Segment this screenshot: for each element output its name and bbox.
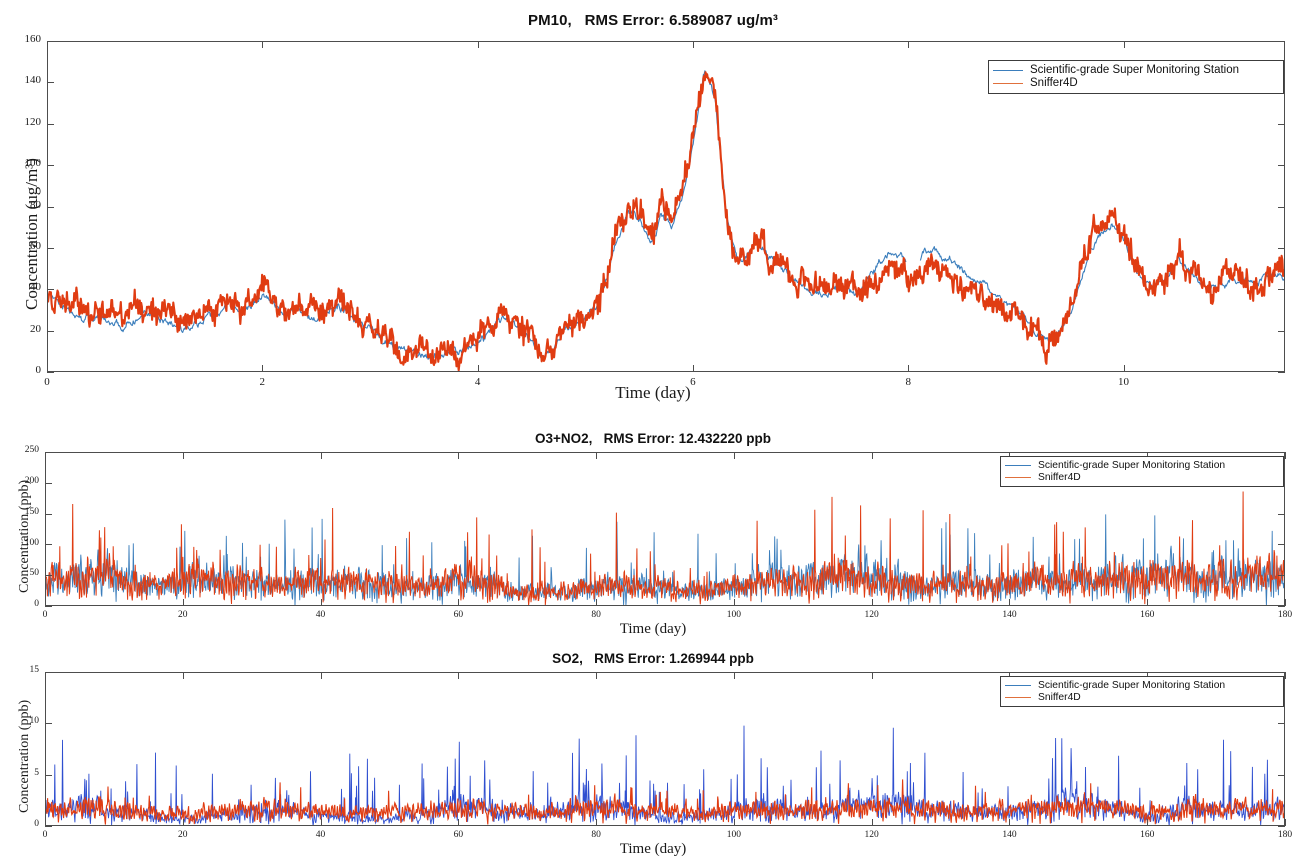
y-tick-mark-right <box>1278 672 1285 673</box>
figure-root: PM10, RMS Error: 6.589087 ug/m³ 02040608… <box>0 0 1306 862</box>
x-tick-mark <box>734 819 735 826</box>
y-tick-mark-right <box>1278 452 1285 453</box>
x-tick-label: 80 <box>574 610 618 620</box>
legend-swatch-station <box>993 70 1023 71</box>
x-tick-mark-top <box>478 41 479 48</box>
y-tick-mark <box>47 207 54 208</box>
x-tick-mark-top <box>908 41 909 48</box>
x-tick-mark <box>1124 365 1125 372</box>
x-tick-mark-top <box>183 452 184 459</box>
x-tick-mark-top <box>596 672 597 679</box>
x-tick-label: 0 <box>23 830 67 840</box>
y-tick-mark-right <box>1278 544 1285 545</box>
x-tick-label: 140 <box>987 830 1031 840</box>
x-tick-mark <box>183 599 184 606</box>
y-tick-mark-right <box>1278 124 1285 125</box>
legend-swatch-sniffer <box>993 83 1023 84</box>
x-tick-label: 180 <box>1263 610 1306 620</box>
panel-title-pm10: PM10, RMS Error: 6.589087 ug/m³ <box>0 12 1306 29</box>
x-tick-mark <box>262 365 263 372</box>
legend-so2: Scientific-grade Super Monitoring Statio… <box>1000 676 1284 707</box>
y-tick-mark <box>47 331 54 332</box>
legend-label-station: Scientific-grade Super Monitoring Statio… <box>1030 64 1239 77</box>
x-tick-mark-top <box>47 41 48 48</box>
x-tick-mark <box>872 599 873 606</box>
y-tick-mark-right <box>1278 606 1285 607</box>
x-tick-mark-top <box>872 452 873 459</box>
x-tick-label: 20 <box>161 610 205 620</box>
x-tick-mark <box>596 599 597 606</box>
y-tick-label: 0 <box>5 599 39 609</box>
x-tick-mark <box>458 599 459 606</box>
panel-title-o3no2: O3+NO2, RMS Error: 12.432220 ppb <box>0 431 1306 446</box>
y-tick-mark <box>45 514 52 515</box>
x-tick-mark-top <box>458 672 459 679</box>
y-tick-label: 250 <box>5 445 39 455</box>
x-tick-label: 140 <box>987 610 1031 620</box>
y-tick-mark-right <box>1278 514 1285 515</box>
y-tick-mark <box>45 575 52 576</box>
x-tick-mark <box>1009 599 1010 606</box>
y-tick-mark <box>47 124 54 125</box>
x-tick-mark-top <box>321 672 322 679</box>
y-tick-label: 140 <box>7 74 41 86</box>
y-tick-mark <box>45 483 52 484</box>
x-tick-mark <box>478 365 479 372</box>
x-tick-label: 120 <box>850 610 894 620</box>
x-tick-mark <box>734 599 735 606</box>
x-tick-mark <box>47 365 48 372</box>
y-tick-mark <box>47 248 54 249</box>
ylabel-so2: Concentration (ppb) <box>17 700 33 813</box>
y-tick-mark <box>45 452 52 453</box>
x-tick-mark <box>321 599 322 606</box>
ylabel-pm10: Concentration (ug/m³) <box>22 158 42 310</box>
x-tick-mark <box>908 365 909 372</box>
x-tick-mark-top <box>45 452 46 459</box>
x-tick-mark <box>1147 599 1148 606</box>
x-tick-mark-top <box>183 672 184 679</box>
x-tick-label: 40 <box>299 830 343 840</box>
x-tick-mark-top <box>872 672 873 679</box>
x-tick-label: 0 <box>23 610 67 620</box>
x-tick-label: 160 <box>1125 610 1169 620</box>
legend-row-station: Scientific-grade Super Monitoring Statio… <box>1005 460 1277 472</box>
x-tick-label: 80 <box>574 830 618 840</box>
x-tick-mark-top <box>1285 672 1286 679</box>
y-tick-mark-right <box>1278 331 1285 332</box>
y-tick-mark <box>47 289 54 290</box>
xlabel-o3no2: Time (day) <box>0 621 1306 638</box>
x-tick-mark-top <box>262 41 263 48</box>
x-tick-mark <box>458 819 459 826</box>
legend-row-sniffer: Sniffer4D <box>1005 472 1277 484</box>
x-tick-mark <box>1009 819 1010 826</box>
legend-row-sniffer: Sniffer4D <box>1005 692 1277 704</box>
x-tick-mark-top <box>1285 452 1286 459</box>
legend-row-station: Scientific-grade Super Monitoring Statio… <box>993 64 1277 77</box>
y-tick-mark <box>45 723 52 724</box>
x-tick-mark <box>1285 819 1286 826</box>
y-tick-mark-right <box>1278 723 1285 724</box>
x-tick-mark <box>693 365 694 372</box>
x-tick-mark-top <box>1124 41 1125 48</box>
legend-swatch-station <box>1005 465 1031 466</box>
y-tick-label: 0 <box>5 819 39 829</box>
legend-swatch-sniffer <box>1005 477 1031 478</box>
xlabel-so2: Time (day) <box>0 841 1306 858</box>
legend-label-sniffer: Sniffer4D <box>1030 77 1078 90</box>
x-tick-label: 20 <box>161 830 205 840</box>
x-tick-label: 120 <box>850 830 894 840</box>
x-tick-mark <box>321 819 322 826</box>
y-tick-mark-right <box>1278 826 1285 827</box>
x-tick-mark-top <box>458 452 459 459</box>
y-tick-mark <box>45 606 52 607</box>
y-tick-mark-right <box>1278 775 1285 776</box>
y-tick-mark <box>45 826 52 827</box>
x-tick-mark-top <box>596 452 597 459</box>
y-tick-mark-right <box>1278 248 1285 249</box>
legend-label-station: Scientific-grade Super Monitoring Statio… <box>1038 680 1225 692</box>
y-tick-mark <box>47 41 54 42</box>
legend-swatch-station <box>1005 685 1031 686</box>
legend-label-sniffer: Sniffer4D <box>1038 692 1081 704</box>
x-tick-mark <box>183 819 184 826</box>
legend-row-station: Scientific-grade Super Monitoring Statio… <box>1005 680 1277 692</box>
y-tick-mark <box>45 775 52 776</box>
y-tick-mark-right <box>1278 289 1285 290</box>
x-tick-mark-top <box>693 41 694 48</box>
y-tick-mark-right <box>1278 575 1285 576</box>
y-tick-label: 20 <box>7 323 41 335</box>
x-tick-mark-top <box>734 672 735 679</box>
y-tick-mark <box>47 165 54 166</box>
legend-pm10: Scientific-grade Super Monitoring Statio… <box>988 60 1284 94</box>
y-tick-mark-right <box>1278 372 1285 373</box>
y-tick-label: 120 <box>7 116 41 128</box>
y-tick-mark <box>45 544 52 545</box>
legend-row-sniffer: Sniffer4D <box>993 77 1277 90</box>
panel-o3no2: O3+NO2, RMS Error: 12.432220 ppb 0501001… <box>0 425 1306 645</box>
panel-so2: SO2, RMS Error: 1.269944 ppb 05101502040… <box>0 645 1306 862</box>
x-tick-mark <box>872 819 873 826</box>
x-tick-mark <box>45 819 46 826</box>
xlabel-pm10: Time (day) <box>0 383 1306 403</box>
legend-swatch-sniffer <box>1005 697 1031 698</box>
y-tick-label: 15 <box>5 665 39 675</box>
y-tick-label: 0 <box>7 364 41 376</box>
x-tick-label: 100 <box>712 830 756 840</box>
legend-o3no2: Scientific-grade Super Monitoring Statio… <box>1000 456 1284 487</box>
y-tick-mark <box>45 672 52 673</box>
panel-pm10: PM10, RMS Error: 6.589087 ug/m³ 02040608… <box>0 0 1306 410</box>
panel-title-so2: SO2, RMS Error: 1.269944 ppb <box>0 651 1306 666</box>
x-tick-mark <box>596 819 597 826</box>
x-tick-label: 40 <box>299 610 343 620</box>
x-tick-mark <box>45 599 46 606</box>
ylabel-o3no2: Concentration (ppb) <box>17 480 33 593</box>
x-tick-mark <box>1285 599 1286 606</box>
x-tick-label: 60 <box>436 610 480 620</box>
x-tick-mark-top <box>45 672 46 679</box>
x-tick-mark-top <box>321 452 322 459</box>
x-tick-label: 60 <box>436 830 480 840</box>
y-tick-mark <box>47 82 54 83</box>
legend-label-station: Scientific-grade Super Monitoring Statio… <box>1038 460 1225 472</box>
y-tick-label: 160 <box>7 33 41 45</box>
x-tick-mark-top <box>734 452 735 459</box>
y-tick-mark-right <box>1278 207 1285 208</box>
legend-label-sniffer: Sniffer4D <box>1038 472 1081 484</box>
x-tick-mark <box>1147 819 1148 826</box>
x-tick-label: 160 <box>1125 830 1169 840</box>
x-tick-label: 180 <box>1263 830 1306 840</box>
y-tick-mark-right <box>1278 165 1285 166</box>
y-tick-mark <box>47 372 54 373</box>
x-tick-label: 100 <box>712 610 756 620</box>
y-tick-mark-right <box>1278 41 1285 42</box>
